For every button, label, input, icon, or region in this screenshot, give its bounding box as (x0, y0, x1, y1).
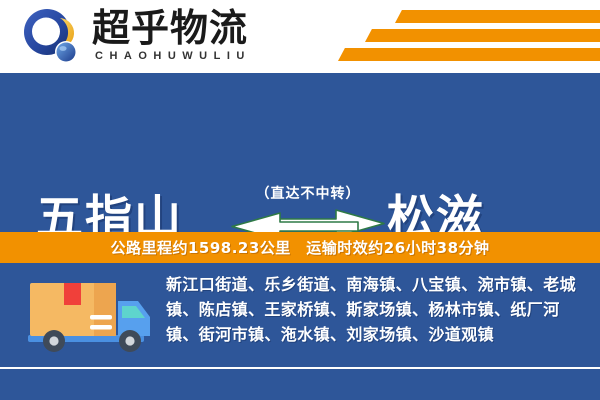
distance-duration-text: 公路里程约1598.23公里 运输时效约26小时38分钟 (110, 237, 489, 258)
coverage-section: 新江口街道、乐乡街道、南海镇、八宝镇、涴市镇、老城镇、陈店镇、王家桥镇、斯家场镇… (0, 263, 600, 367)
coverage-areas-text: 新江口街道、乐乡街道、南海镇、八宝镇、涴市镇、老城镇、陈店镇、王家桥镇、斯家场镇… (166, 272, 588, 347)
route-band: 五指山 （直达不中转） 【往返运输】 松滋 (0, 73, 600, 232)
stripe-3 (338, 48, 600, 61)
brand-name-en: CHAOHUWULIU (95, 50, 251, 62)
logistics-route-poster: 超乎物流 CHAOHUWULIU 五指山 （直达不中转） 【往返运输】 松滋 (0, 0, 600, 400)
stripe-2 (365, 29, 600, 42)
footer-band (0, 369, 600, 400)
stripe-1 (395, 10, 600, 23)
header-stripes-decoration (340, 6, 600, 68)
circle-q-logo-icon (22, 8, 80, 66)
delivery-truck-icon (24, 275, 154, 357)
brand-name-cn: 超乎物流 (92, 6, 248, 50)
route-note-top: （直达不中转） (228, 183, 388, 203)
header: 超乎物流 CHAOHUWULIU (0, 0, 600, 73)
distance-duration-bar: 公路里程约1598.23公里 运输时效约26小时38分钟 (0, 232, 600, 263)
